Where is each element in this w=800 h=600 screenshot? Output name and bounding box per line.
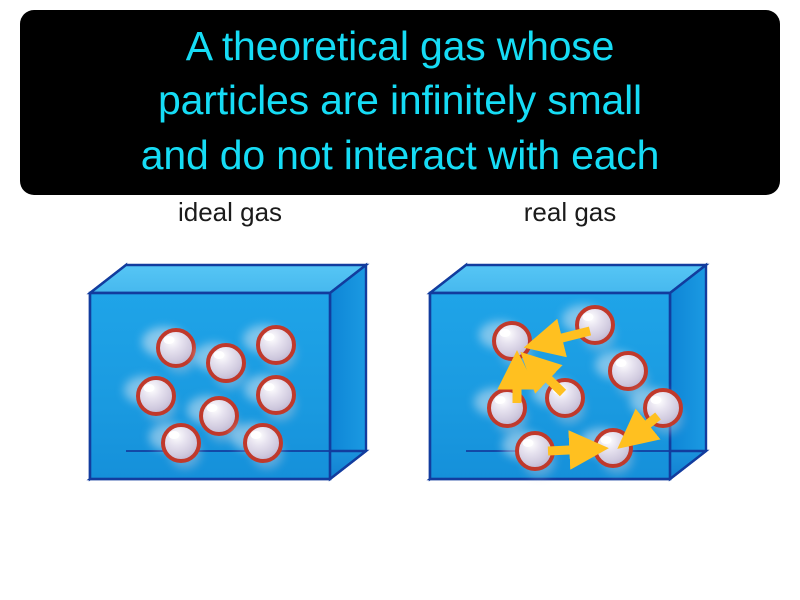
definition-banner: A theoretical gas whose particles are in… (20, 10, 780, 195)
interaction-arrow-icon (548, 449, 590, 451)
cube-top-face (430, 265, 706, 293)
definition-text: A theoretical gas whose particles are in… (141, 19, 659, 181)
cube-ideal-gas (80, 253, 380, 488)
cube-top-face (90, 265, 366, 293)
panel-real-gas: real gas (400, 195, 740, 495)
figure-area: ideal gas (0, 195, 800, 495)
cube-right-face (330, 265, 366, 479)
cube-right-face (670, 265, 706, 479)
panel-label-ideal-gas: ideal gas (60, 197, 400, 228)
panel-label-real-gas: real gas (400, 197, 740, 228)
cube-real-gas (420, 253, 720, 488)
panel-ideal-gas: ideal gas (60, 195, 400, 495)
